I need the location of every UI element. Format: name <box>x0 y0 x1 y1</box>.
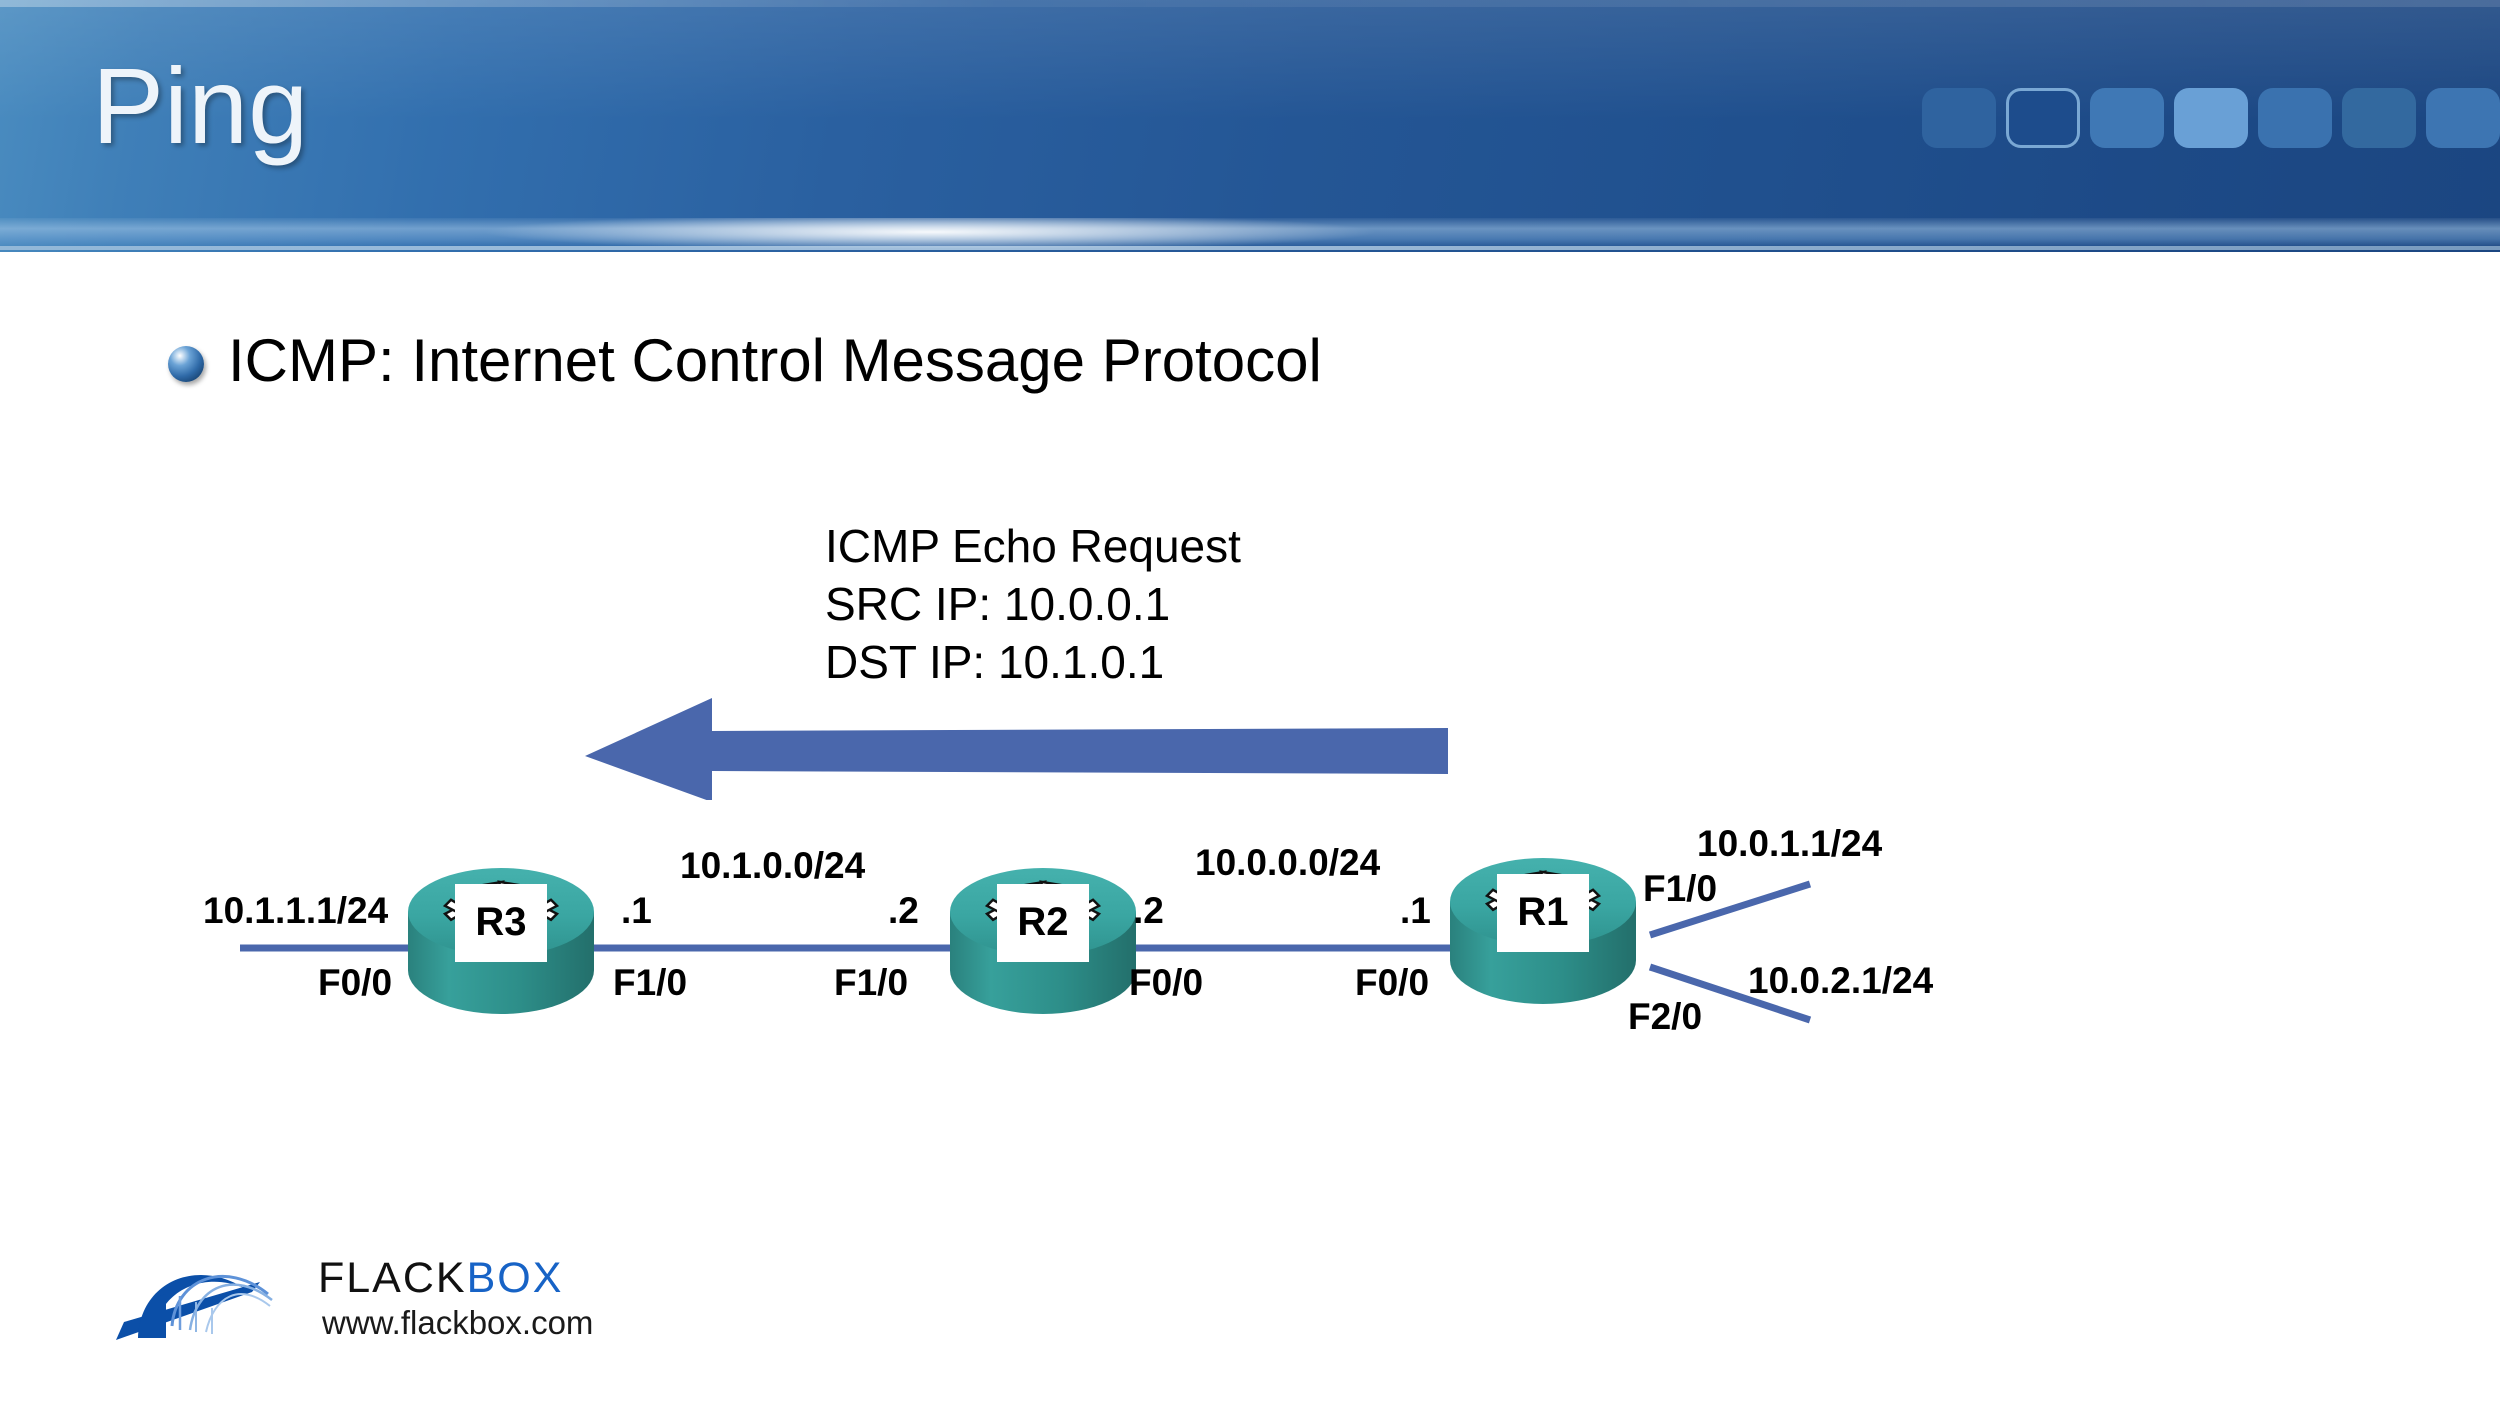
iface-r2-f0-0: F0/0 <box>1129 962 1203 1004</box>
deco-square-1 <box>1922 88 1996 148</box>
subnet-10-0-0-0-24: 10.0.0.0/24 <box>1195 842 1380 884</box>
deco-square-3 <box>2090 88 2164 148</box>
slide-header-banner: Ping <box>0 0 2500 252</box>
header-top-edge <box>0 0 2500 7</box>
bullet-list-item: ICMP: Internet Control Message Protocol <box>168 326 1322 395</box>
deco-square-6 <box>2342 88 2416 148</box>
iface-r2-f1-0: F1/0 <box>834 962 908 1004</box>
deco-square-2 <box>2006 88 2080 148</box>
deco-square-7 <box>2426 88 2500 148</box>
ip-r3-f1-0: .1 <box>621 890 652 932</box>
iface-r1-f0-0: F0/0 <box>1355 962 1429 1004</box>
callout-line-dst: DST IP: 10.1.0.1 <box>825 634 1241 692</box>
subnet-10-0-2-1-24: 10.0.2.1/24 <box>1748 960 1933 1002</box>
bullet-sphere-icon <box>168 346 204 382</box>
logo-word-blue: BOX <box>467 1254 564 1302</box>
router-label-r1: R1 <box>1497 874 1589 952</box>
subnet-10-0-1-1-24: 10.0.1.1/24 <box>1697 823 1882 865</box>
router-label-r3: R3 <box>455 884 547 962</box>
callout-line-title: ICMP Echo Request <box>825 518 1241 576</box>
logo-word-black: FLACK <box>318 1254 467 1302</box>
deco-square-4 <box>2174 88 2248 148</box>
iface-r3-f0-0: F0/0 <box>318 962 392 1004</box>
router-label-r2: R2 <box>997 884 1089 962</box>
header-bottom-rule <box>0 246 2500 250</box>
ip-r1-f0-0: .1 <box>1400 890 1431 932</box>
arrow-polygon <box>585 698 1448 800</box>
iface-r1-f2-0: F2/0 <box>1628 996 1702 1038</box>
ip-r2-f0-0: .2 <box>1133 890 1164 932</box>
icmp-packet-callout: ICMP Echo Request SRC IP: 10.0.0.1 DST I… <box>825 518 1241 692</box>
deco-square-5 <box>2258 88 2332 148</box>
callout-line-src: SRC IP: 10.0.0.1 <box>825 576 1241 634</box>
subnet-10-1-0-0-24: 10.1.0.0/24 <box>680 845 865 887</box>
packet-flow-arrow-left <box>580 690 1450 800</box>
iface-r3-f1-0: F1/0 <box>613 962 687 1004</box>
header-bottom-glow <box>0 218 2500 248</box>
iface-r1-f1-0: F1/0 <box>1643 868 1717 910</box>
flackbox-logo: FLACKBOX www.flackbox.com <box>110 1252 540 1372</box>
flackbox-bridge-icon <box>110 1252 310 1347</box>
bullet-item-label: ICMP: Internet Control Message Protocol <box>228 326 1322 395</box>
header-decoration-squares <box>1922 88 2500 148</box>
page-title: Ping <box>92 52 308 160</box>
logo-url-text: www.flackbox.com <box>322 1304 593 1342</box>
flackbox-wordmark: FLACKBOX <box>318 1254 563 1303</box>
ip-r2-f1-0: .2 <box>888 890 919 932</box>
subnet-10-1-1-1-24: 10.1.1.1/24 <box>203 890 388 932</box>
